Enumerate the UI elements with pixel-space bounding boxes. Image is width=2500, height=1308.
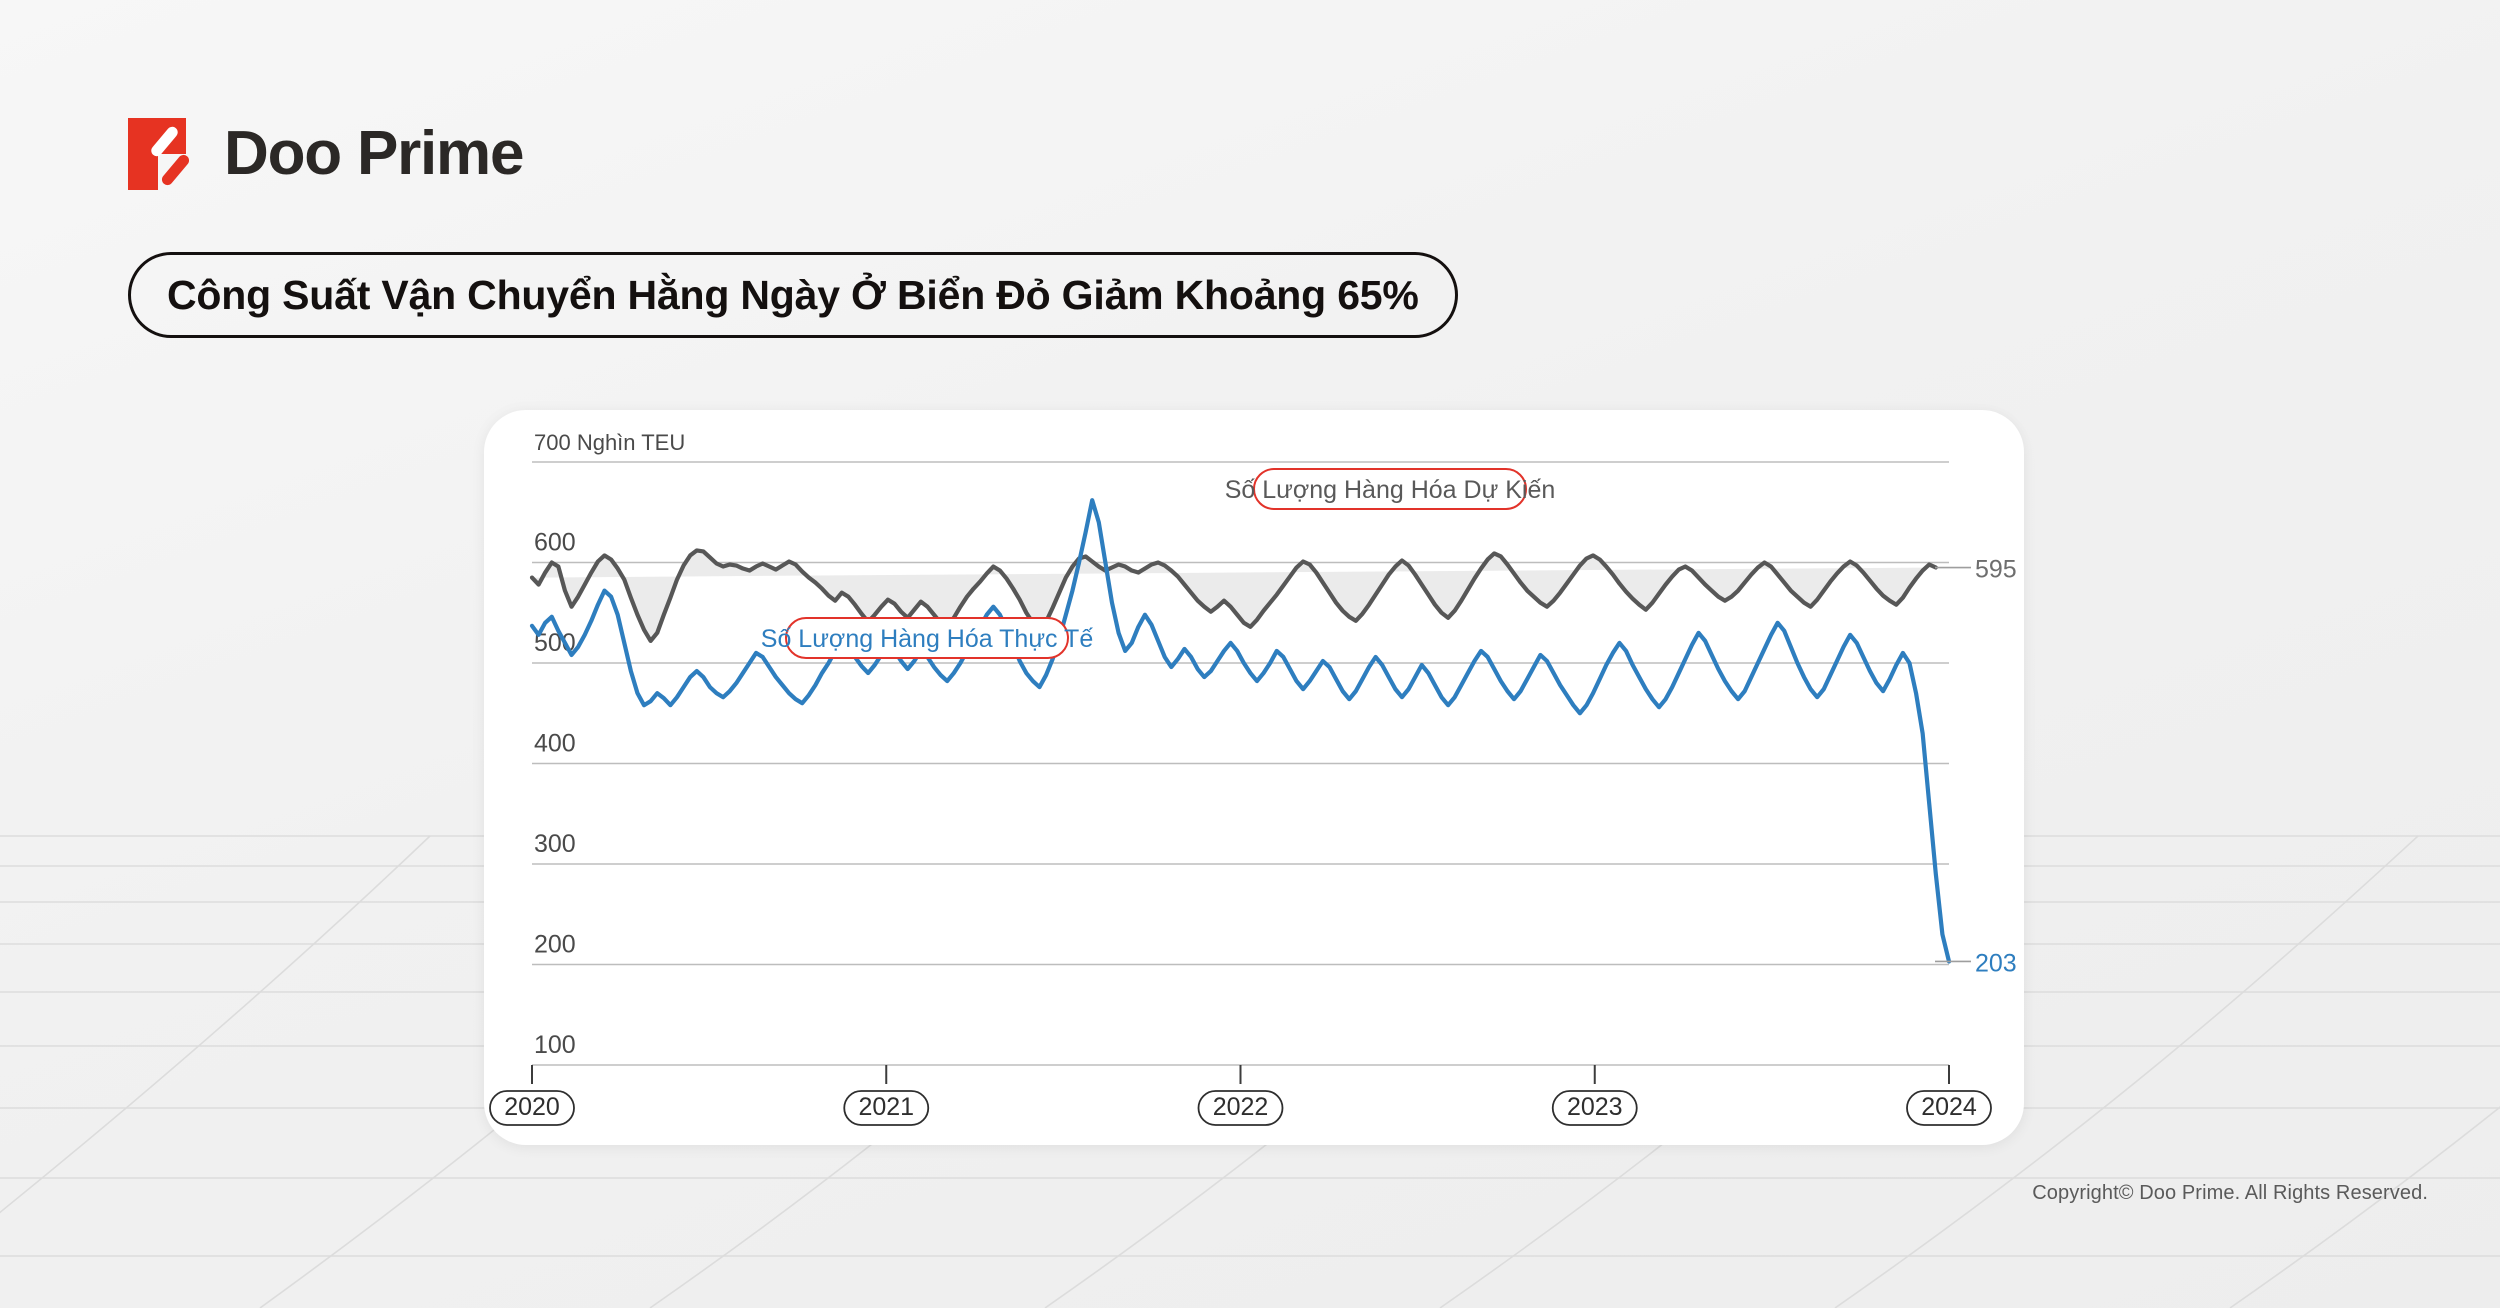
x-axis-pill-2020[interactable]: 2020 xyxy=(490,1091,574,1125)
chart-card: 700 Nghìn TEU600500400300200100595203202… xyxy=(484,410,2024,1145)
x-axis-pill-label-2022: 2022 xyxy=(1213,1093,1269,1121)
x-axis-pill-label-2023: 2023 xyxy=(1567,1093,1623,1121)
copyright-text: Copyright© Doo Prime. All Rights Reserve… xyxy=(2032,1182,2428,1205)
doo-prime-mark-icon xyxy=(128,118,198,190)
expected-series-label: Số Lượng Hàng Hóa Dự Kiến xyxy=(1225,469,1556,509)
y-axis-label-600: 600 xyxy=(534,529,576,557)
brand-wordmark: Doo Prime xyxy=(224,123,523,185)
expected-series-label-text: Số Lượng Hàng Hóa Dự Kiến xyxy=(1225,476,1556,504)
x-axis-pill-2024[interactable]: 2024 xyxy=(1907,1091,1991,1125)
x-axis-pill-2021[interactable]: 2021 xyxy=(844,1091,928,1125)
actual-series-label-text: Số Lượng Hàng Hóa Thực Tế xyxy=(761,625,1094,653)
y-axis-label-200: 200 xyxy=(534,931,576,959)
y-axis-label-400: 400 xyxy=(534,730,576,758)
x-axis-pill-label-2020: 2020 xyxy=(504,1093,560,1121)
headline-pill: Công Suất Vận Chuyển Hằng Ngày Ở Biển Đỏ… xyxy=(128,252,1458,338)
x-axis: 20202021202220232024 xyxy=(490,1065,1991,1125)
y-axis-label-700: 700 Nghìn TEU xyxy=(534,430,685,455)
y-axis-label-300: 300 xyxy=(534,830,576,858)
x-axis-pill-2023[interactable]: 2023 xyxy=(1553,1091,1637,1125)
x-axis-pill-2022[interactable]: 2022 xyxy=(1199,1091,1283,1125)
x-axis-pill-label-2024: 2024 xyxy=(1921,1093,1977,1121)
x-axis-pill-label-2021: 2021 xyxy=(858,1093,914,1121)
brand-logo: Doo Prime xyxy=(128,118,523,190)
shipping-capacity-line-chart: 700 Nghìn TEU600500400300200100595203202… xyxy=(484,410,2024,1145)
end-value-label-actual: 203 xyxy=(1975,949,2017,977)
y-gridlines: 700 Nghìn TEU600500400300200100 xyxy=(532,430,1949,1065)
end-value-label-expected: 595 xyxy=(1975,556,2017,584)
y-axis-label-100: 100 xyxy=(534,1031,576,1059)
page-title: Công Suất Vận Chuyển Hằng Ngày Ở Biển Đỏ… xyxy=(167,272,1419,319)
actual-series-label: Số Lượng Hàng Hóa Thực Tế xyxy=(761,618,1094,658)
series-gap-band xyxy=(532,550,1936,640)
